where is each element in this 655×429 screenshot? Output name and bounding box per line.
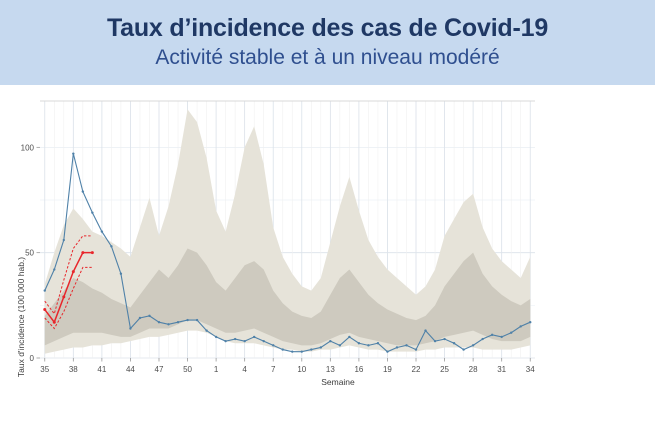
svg-text:7: 7: [271, 365, 276, 374]
svg-text:16: 16: [354, 365, 363, 374]
chart-region: 050100 353841444750147101316192225283134…: [0, 85, 655, 429]
svg-text:1: 1: [214, 365, 219, 374]
svg-text:34: 34: [526, 365, 535, 374]
page-title: Taux d’incidence des cas de Covid-19: [107, 15, 548, 43]
svg-text:41: 41: [97, 365, 106, 374]
svg-text:50: 50: [183, 365, 192, 374]
svg-text:44: 44: [126, 365, 135, 374]
svg-text:13: 13: [326, 365, 335, 374]
incidence-line-chart: 050100 353841444750147101316192225283134…: [0, 85, 655, 429]
page-subtitle: Activité stable et à un niveau modéré: [155, 46, 499, 70]
svg-text:10: 10: [297, 365, 306, 374]
svg-text:25: 25: [440, 365, 449, 374]
svg-text:28: 28: [469, 365, 478, 374]
svg-text:47: 47: [155, 365, 164, 374]
svg-text:0: 0: [30, 354, 35, 363]
svg-text:19: 19: [383, 365, 392, 374]
header-banner: Taux d’incidence des cas de Covid-19 Act…: [0, 0, 655, 85]
svg-text:50: 50: [25, 249, 34, 258]
svg-text:31: 31: [497, 365, 506, 374]
x-axis-title: Semaine: [321, 377, 355, 387]
svg-text:38: 38: [69, 365, 78, 374]
svg-text:35: 35: [40, 365, 49, 374]
svg-text:4: 4: [242, 365, 247, 374]
svg-text:100: 100: [21, 143, 35, 152]
y-axis-title: Taux d'incidence (100 000 hab.): [16, 257, 26, 377]
svg-text:22: 22: [412, 365, 421, 374]
